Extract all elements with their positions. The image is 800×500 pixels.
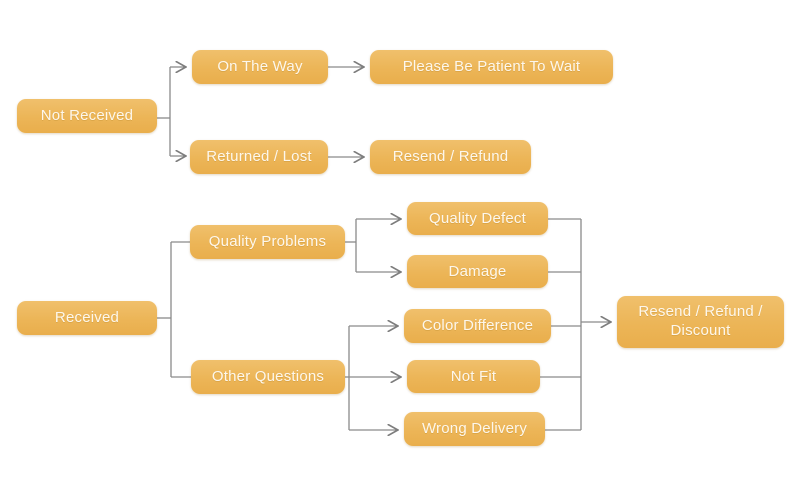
node-on-the-way[interactable]: On The Way [192, 50, 328, 84]
node-label: Not Fit [415, 368, 532, 385]
node-returned-lost[interactable]: Returned / Lost [190, 140, 328, 174]
node-label: Quality Defect [415, 210, 540, 227]
node-label: Resend / Refund [378, 148, 523, 165]
node-please-be-patient-to-wait[interactable]: Please Be Patient To Wait [370, 50, 613, 84]
node-resend-refund[interactable]: Resend / Refund [370, 140, 531, 174]
node-label-line1: Resend / Refund / [625, 303, 776, 322]
node-label: Returned / Lost [198, 148, 320, 165]
node-resend-refund-discount[interactable]: Resend / Refund / Discount [617, 296, 784, 348]
node-label: Wrong Delivery [412, 420, 537, 437]
node-label: Quality Problems [198, 233, 337, 250]
node-quality-problems[interactable]: Quality Problems [190, 225, 345, 259]
node-quality-defect[interactable]: Quality Defect [407, 202, 548, 235]
node-other-questions[interactable]: Other Questions [191, 360, 345, 394]
flowchart-canvas: Not Received On The Way Please Be Patien… [0, 0, 800, 500]
node-label: Please Be Patient To Wait [378, 58, 605, 75]
node-damage[interactable]: Damage [407, 255, 548, 288]
node-label: Not Received [25, 107, 149, 124]
node-not-fit[interactable]: Not Fit [407, 360, 540, 393]
node-color-difference[interactable]: Color Difference [404, 309, 551, 343]
node-label: Damage [415, 263, 540, 280]
node-wrong-delivery[interactable]: Wrong Delivery [404, 412, 545, 446]
node-label: Received [25, 309, 149, 326]
node-label: On The Way [200, 58, 320, 75]
node-label-line2: Discount [625, 322, 776, 341]
node-not-received[interactable]: Not Received [17, 99, 157, 133]
node-received[interactable]: Received [17, 301, 157, 335]
node-label: Other Questions [199, 368, 337, 385]
node-label: Color Difference [412, 317, 543, 334]
